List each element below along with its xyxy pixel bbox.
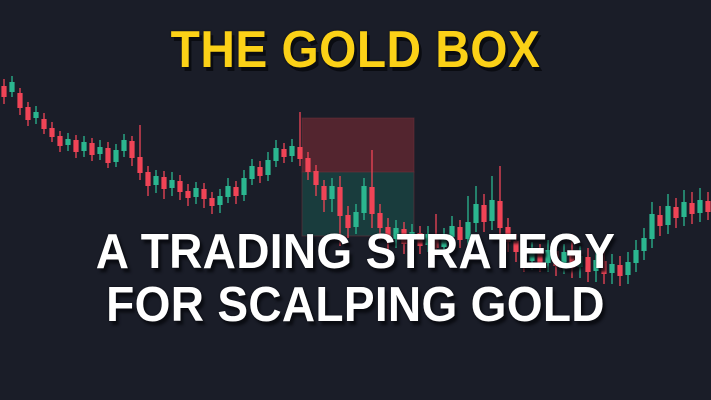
candle-body xyxy=(641,238,646,251)
candle-body xyxy=(625,262,630,275)
candle-body xyxy=(569,253,574,268)
candle-body xyxy=(105,148,110,163)
candle-body xyxy=(113,150,118,162)
candle-body xyxy=(577,256,582,267)
candle-body xyxy=(81,142,86,151)
candle-body xyxy=(649,214,654,239)
candle-body xyxy=(449,226,454,237)
candle-body xyxy=(705,201,710,212)
candle-body xyxy=(417,233,422,246)
candle-body xyxy=(505,227,510,242)
candle-body xyxy=(273,148,278,161)
candle-body xyxy=(241,178,246,195)
candle-body xyxy=(609,264,614,273)
candle-body xyxy=(601,261,606,274)
candle-body xyxy=(409,232,414,243)
supply-zone xyxy=(302,118,414,172)
candle-body xyxy=(697,200,702,213)
candle-body xyxy=(681,202,686,217)
candle-body xyxy=(121,140,126,151)
candle-body xyxy=(345,215,350,228)
candle-body xyxy=(89,143,94,155)
candle-body xyxy=(1,86,6,97)
candle-body xyxy=(673,207,678,218)
candle-body xyxy=(689,203,694,214)
candlestick-chart xyxy=(0,0,711,400)
candle-body xyxy=(209,198,214,206)
candle-body xyxy=(193,188,198,197)
candle-body xyxy=(353,212,358,227)
candlestick-chart-svg xyxy=(0,0,711,400)
candle-body xyxy=(321,186,326,200)
candle-body xyxy=(513,241,518,252)
candle-body xyxy=(57,136,62,146)
candle-body xyxy=(49,128,54,137)
candle-body xyxy=(441,236,446,247)
candle-body xyxy=(633,250,638,263)
candle-body xyxy=(169,180,174,188)
candle-body xyxy=(201,189,206,199)
candle-body xyxy=(361,186,366,213)
candle-body xyxy=(97,147,102,154)
candle-body xyxy=(297,147,302,159)
candle-body xyxy=(305,158,310,172)
candle-body xyxy=(489,200,494,221)
gold-box-thumbnail: THE GOLD BOX A TRADING STRATEGY FOR SCAL… xyxy=(0,0,711,400)
candle-body xyxy=(25,107,30,120)
candle-body xyxy=(329,186,334,199)
candle-body xyxy=(585,257,590,272)
candle-body xyxy=(225,186,230,197)
candle-body xyxy=(161,177,166,189)
candle-body xyxy=(465,222,470,239)
candle-body xyxy=(337,187,342,216)
candle-body xyxy=(41,119,46,129)
candle-body xyxy=(457,227,462,240)
candle-body xyxy=(433,235,438,248)
candle-body xyxy=(17,93,22,108)
candle-body xyxy=(129,141,134,158)
candle-body xyxy=(521,251,526,262)
candle-body xyxy=(177,181,182,192)
candle-body xyxy=(561,252,566,265)
candle-body xyxy=(33,112,38,118)
candle-body xyxy=(497,201,502,228)
candle-body xyxy=(593,260,598,271)
candle-body xyxy=(217,196,222,205)
candle-body xyxy=(185,191,190,198)
candle-body xyxy=(377,213,382,228)
candle-body xyxy=(281,149,286,157)
candle-body xyxy=(665,206,670,225)
candle-body xyxy=(145,172,150,186)
candle-body xyxy=(393,228,398,239)
candle-body xyxy=(537,251,542,264)
candle-body xyxy=(553,251,558,266)
candle-body xyxy=(257,167,262,176)
candle-body xyxy=(657,215,662,226)
candle-body xyxy=(313,171,318,185)
candle-body xyxy=(65,139,70,145)
candle-body xyxy=(369,187,374,214)
candle-body xyxy=(481,205,486,222)
candle-body xyxy=(249,166,254,179)
candle-body xyxy=(289,146,294,156)
candle-body xyxy=(473,204,478,223)
candle-body xyxy=(153,176,158,185)
candle-body xyxy=(233,187,238,196)
candle-body xyxy=(9,82,14,92)
candle-body xyxy=(385,227,390,240)
candle-body xyxy=(137,157,142,173)
candle-body xyxy=(617,265,622,276)
candle-body xyxy=(545,250,550,263)
candle-body xyxy=(529,250,534,261)
candle-body xyxy=(73,140,78,152)
candle-body xyxy=(401,229,406,244)
candle-body xyxy=(425,234,430,245)
candle-body xyxy=(265,160,270,175)
